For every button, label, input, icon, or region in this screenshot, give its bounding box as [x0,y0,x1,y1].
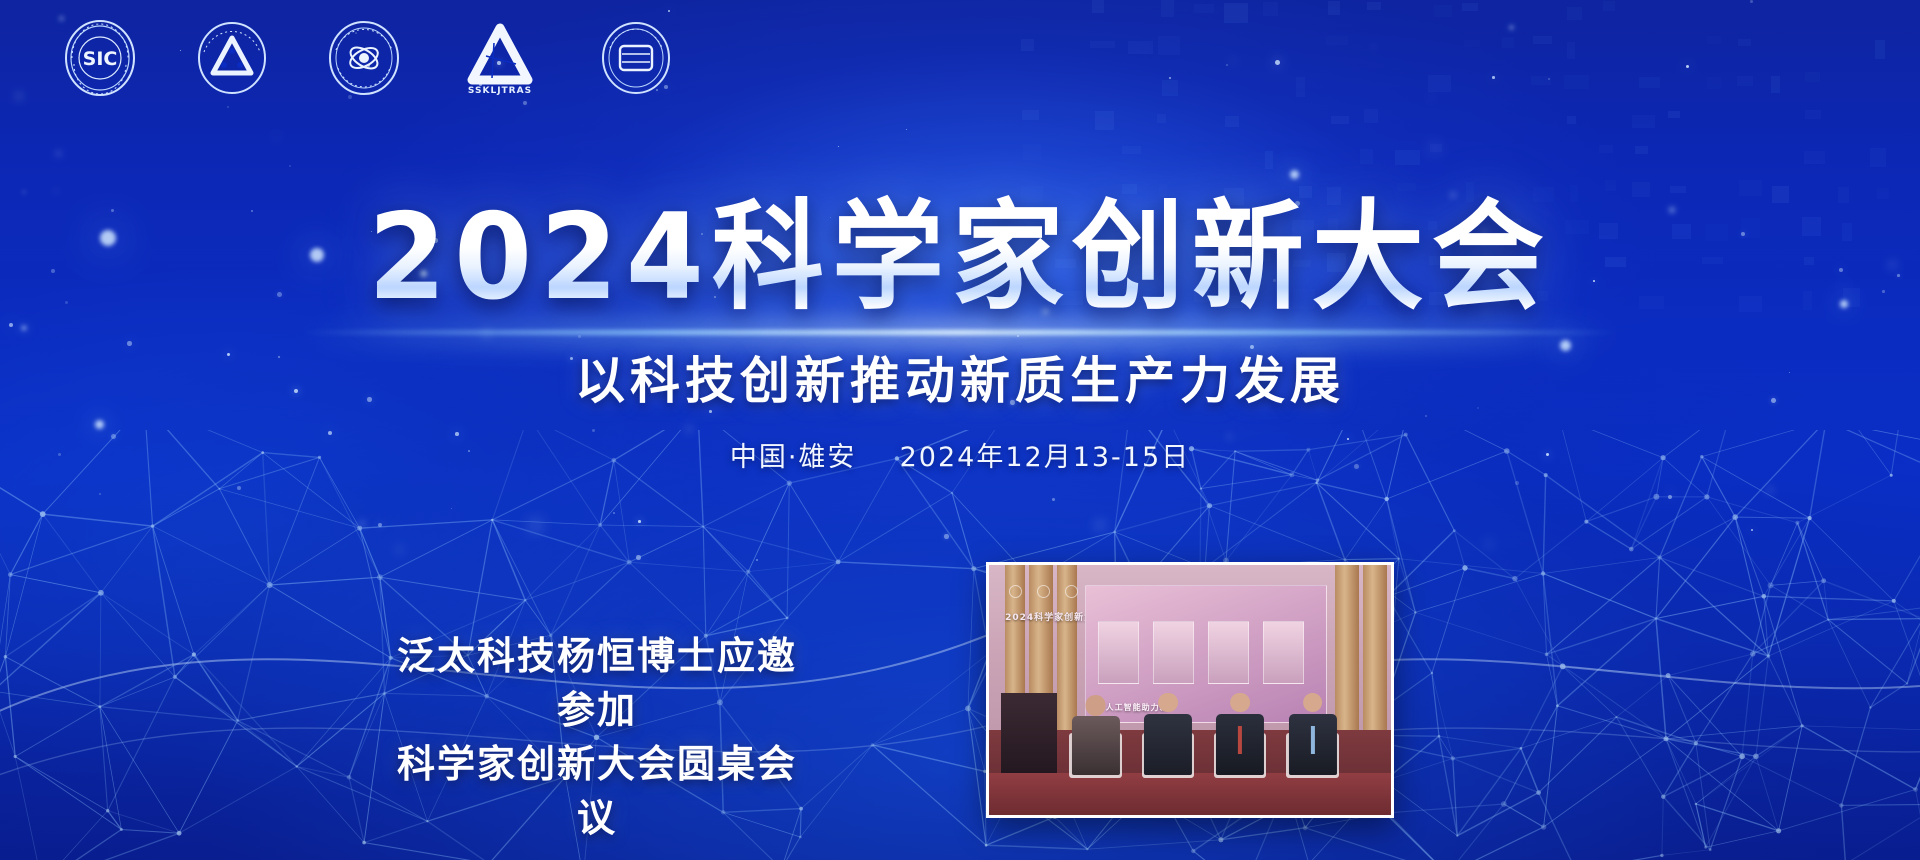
date-location-line: 中国·雄安 2024年12月13-15日 [0,435,1920,474]
photo-panelist-head [1085,695,1106,716]
caption-line-2: 科学家创新大会圆桌会议 [392,738,802,846]
photo-carpet [989,773,1391,816]
svg-text:SIC: SIC [83,48,118,70]
date-text: 2024年12月13-15日 [900,442,1191,473]
photo-panelist-body [1071,716,1119,775]
photo-stage-logo-icon [1009,585,1022,598]
photo-panelist-head [1158,693,1178,713]
logo-triangle-mark: SSKLJTRAS [458,18,542,98]
main-title: 2024科学家创新大会 [0,192,1920,325]
photo-panelist-tie [1311,726,1315,754]
caption-line-1: 泛太科技杨恒博士应邀参加 [392,630,802,738]
photo-panelist-head [1230,693,1250,713]
photo-panelist-tie [1238,726,1242,754]
photo-panelist-head [1303,693,1323,713]
photo-panelist [1214,693,1266,776]
title-block: 2024科学家创新大会 以科技创新推动新质生产力发展 中国·雄安 2024年12… [0,196,1920,474]
photo-column [1363,565,1387,730]
photo-panelist [1286,693,1338,776]
logo-triangle-mark-label: SSKLJTRAS [468,86,532,96]
photo-panelist-body [1144,714,1192,775]
event-photo: 2024科学家创新大会 人工智能助力新 [986,562,1394,818]
photo-speaker-portrait [1263,621,1304,683]
photo-panelist [1142,693,1194,776]
photo-speaker-portrait [1208,621,1249,683]
logo-triangle-seal [194,18,270,98]
subtitle: 以科技创新推动新质生产力发展 [0,341,1920,413]
photo-speaker-portrait [1098,621,1139,683]
logo-round-badge [598,18,674,98]
logo-sic-seal: SIC [62,18,138,98]
event-banner: SIC [0,0,1920,860]
caption-block: 泛太科技杨恒博士应邀参加 科学家创新大会圆桌会议 [392,630,802,846]
sponsor-logo-row: SIC [62,18,674,98]
logo-atom-seal [326,18,402,98]
location-text: 中国·雄安 [730,442,857,473]
photo-podium [1001,693,1057,773]
photo-panelist [1069,695,1121,775]
photo-speaker-portrait [1153,621,1194,683]
